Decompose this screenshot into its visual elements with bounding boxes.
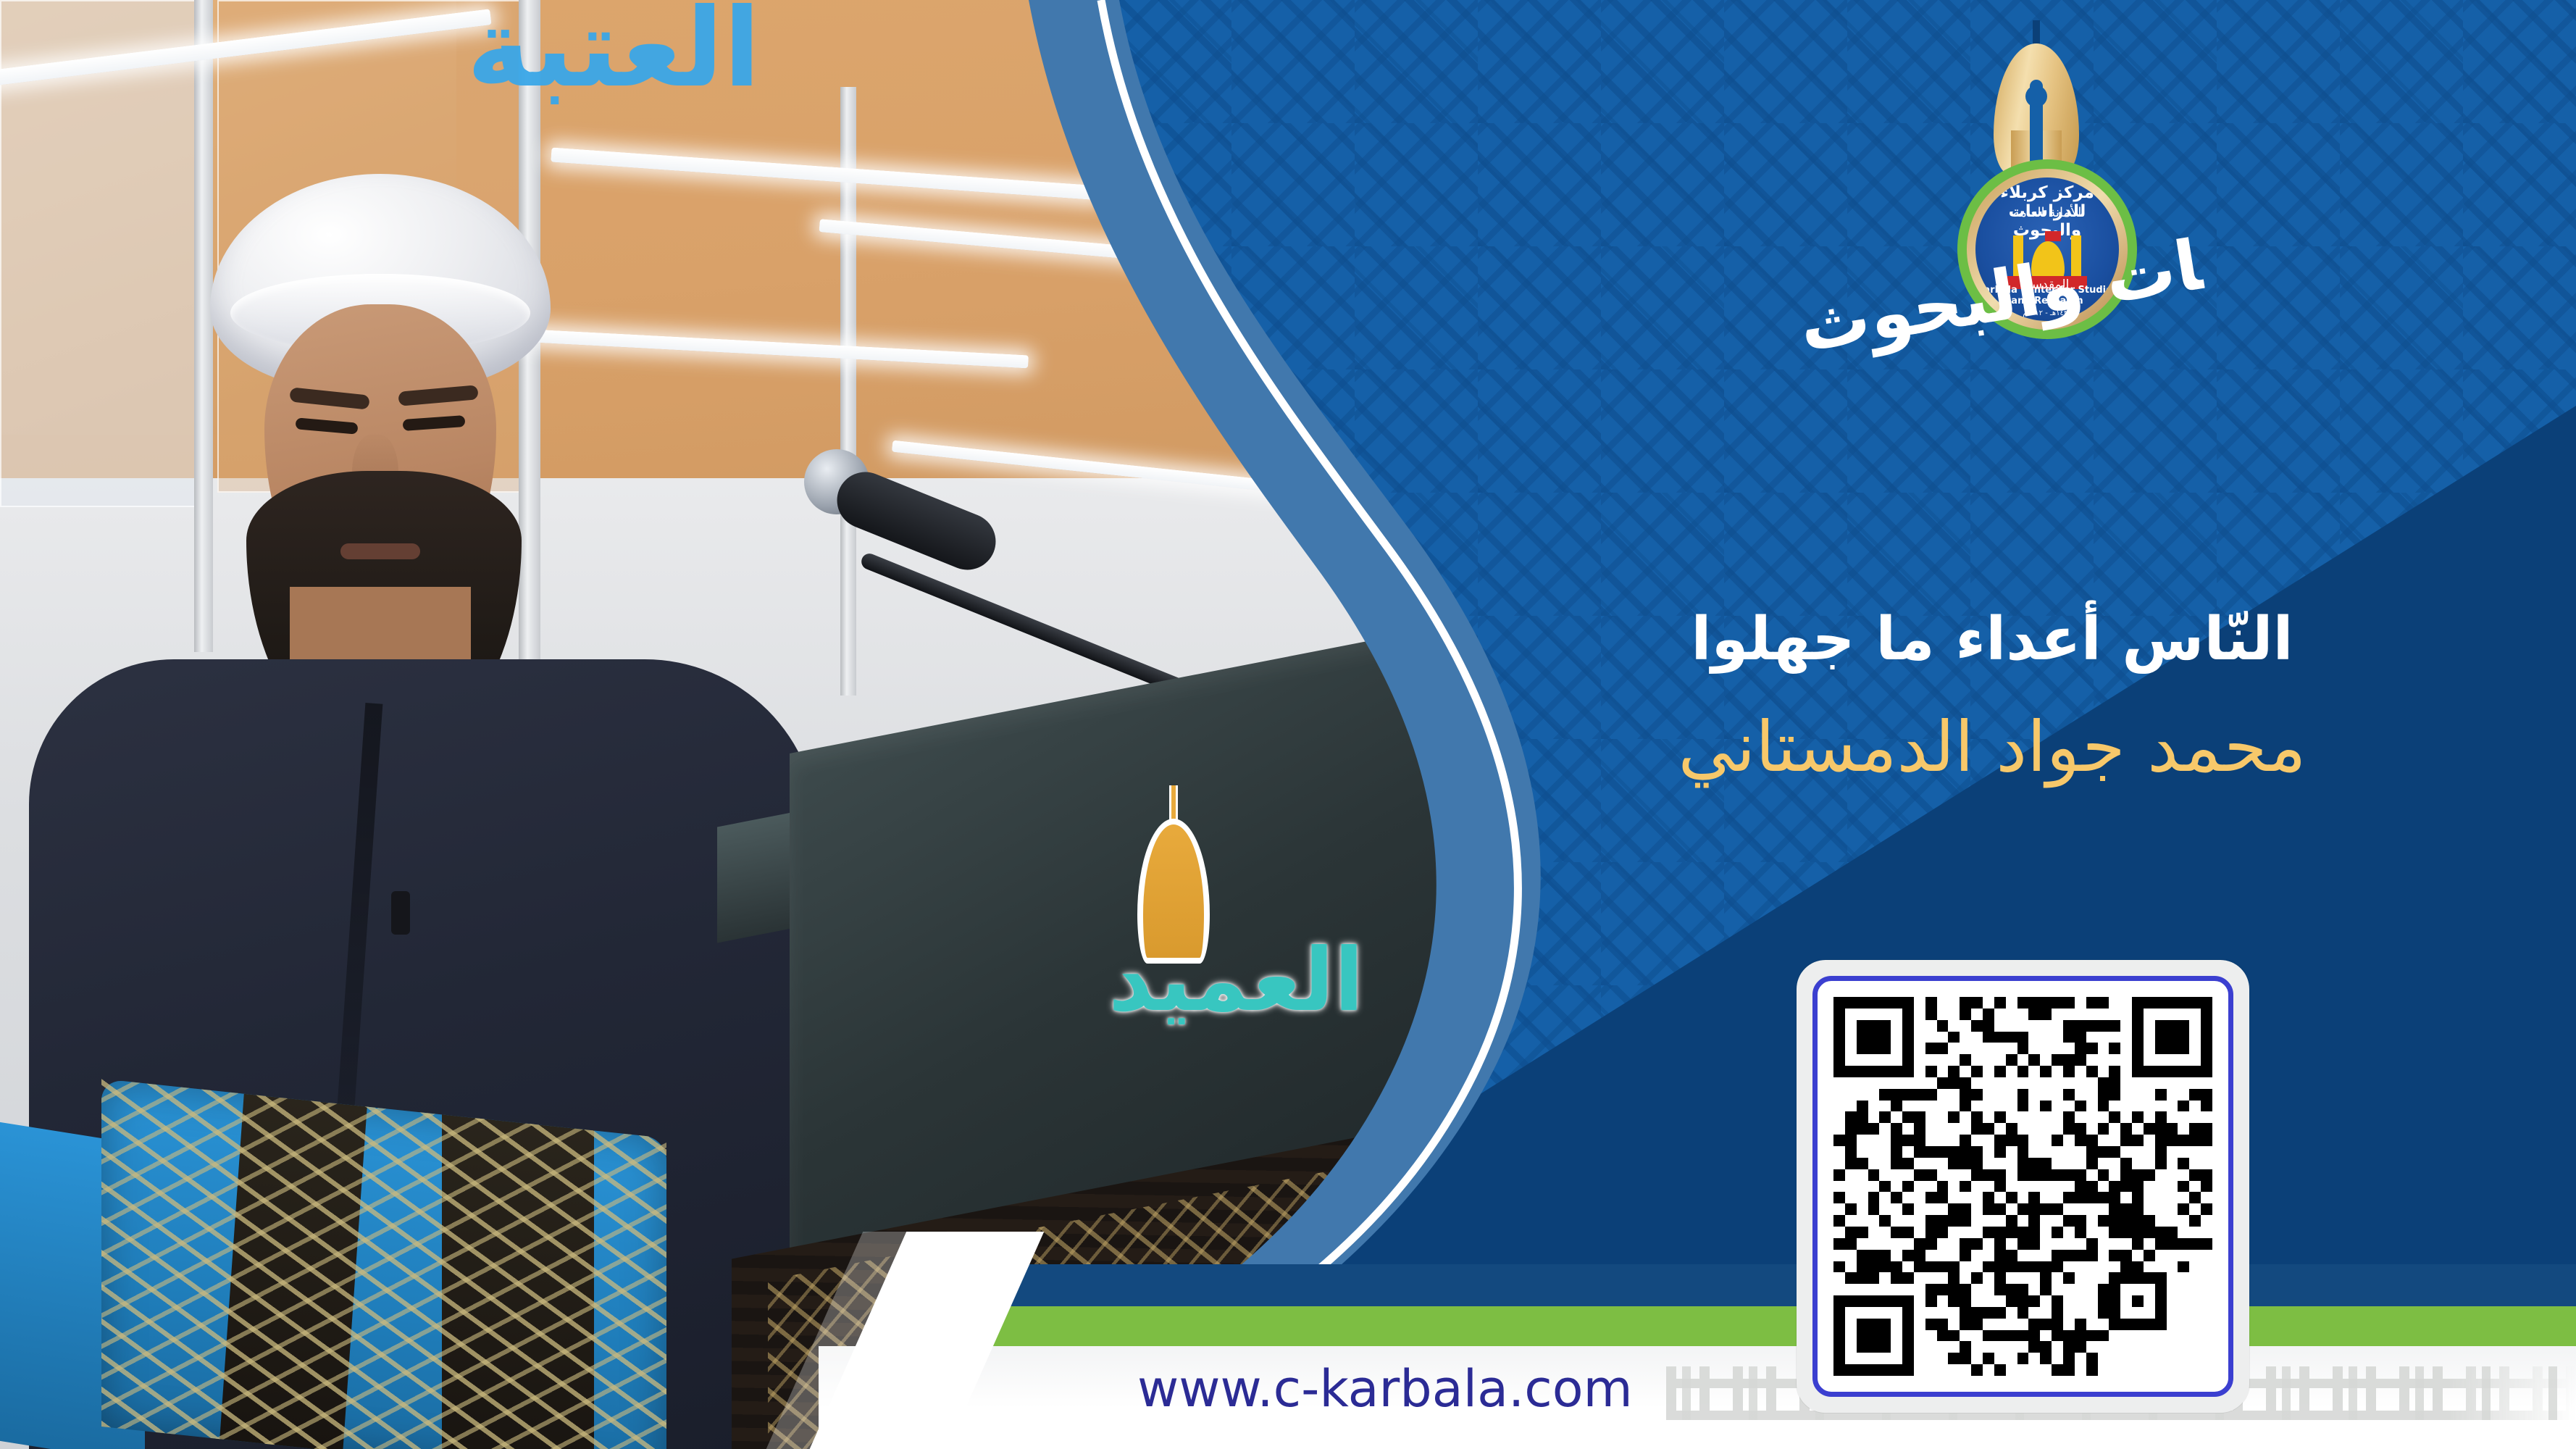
qr-code-card[interactable] <box>1797 960 2249 1413</box>
shrine-flag <box>2045 231 2061 241</box>
website-url[interactable]: www.c-karbala.com <box>1137 1349 1789 1429</box>
footer-green-bar <box>891 1306 2576 1346</box>
quote-headline: النّاس أعداء ما جهلوا <box>1557 605 2427 674</box>
qr-code-frame <box>1812 976 2233 1397</box>
banner-canvas: العتبة <box>0 0 2576 1449</box>
qr-code-matrix <box>1833 997 2212 1376</box>
speaker-name: محمد جواد الدمستاني <box>1557 706 2427 788</box>
logo-arabic-mid: الأمانة العامة <box>1975 205 2119 220</box>
footer-navy-bar <box>906 1264 2576 1306</box>
pen-dot <box>2025 85 2047 107</box>
